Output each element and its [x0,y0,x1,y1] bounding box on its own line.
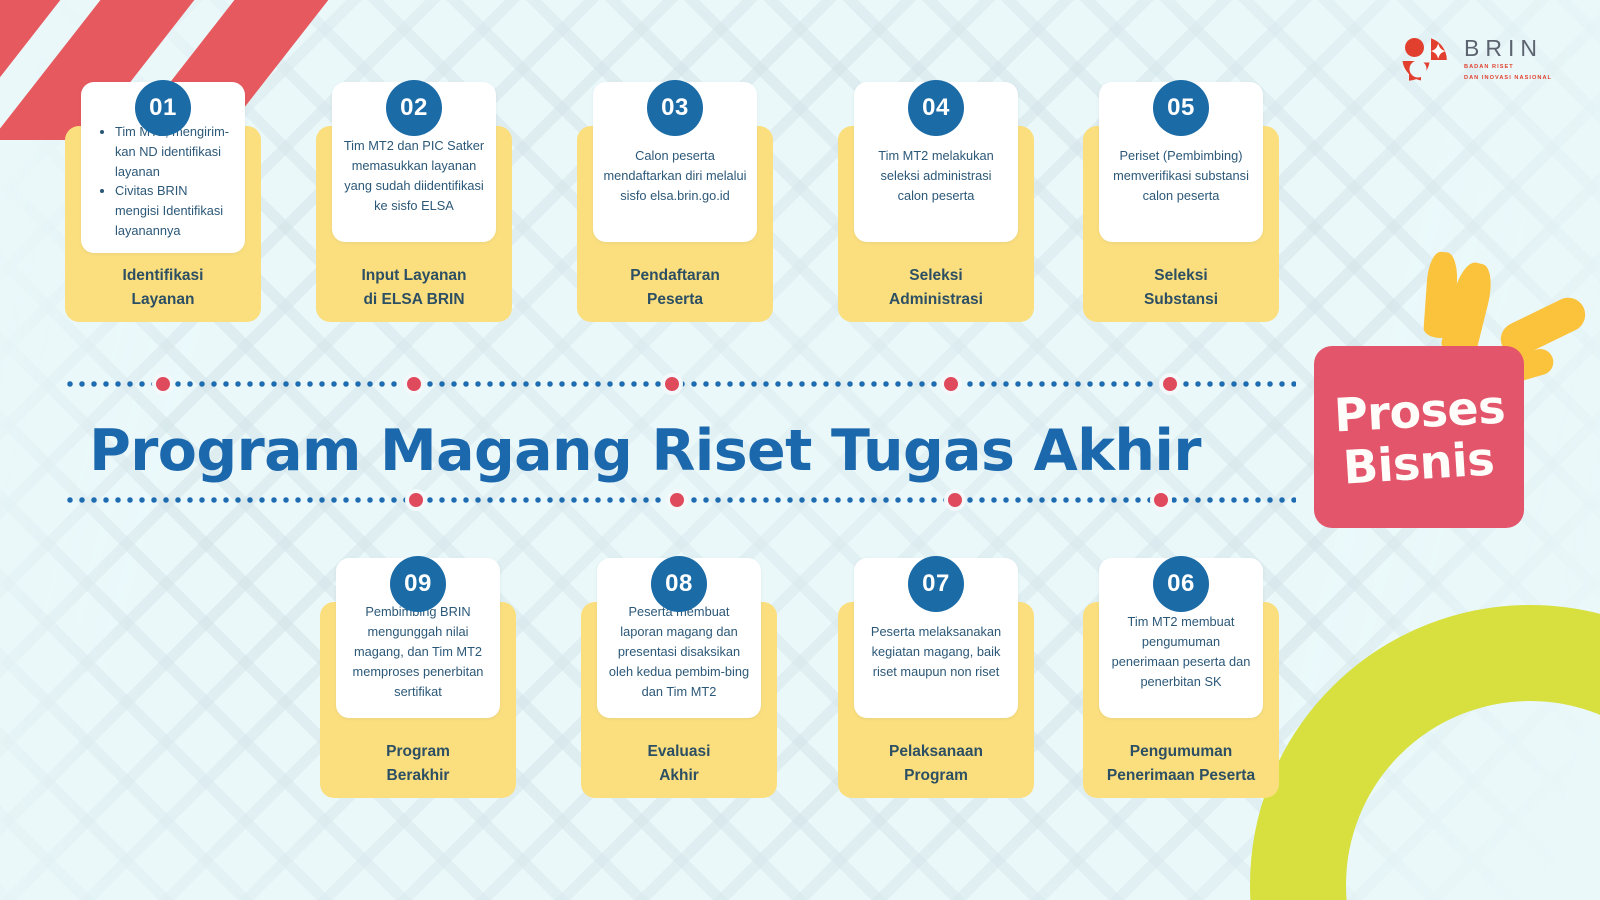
card-caption: Program Berakhir [320,740,516,788]
card-body: Peserta melaksanakan kegiatan magang, ba… [864,622,1008,681]
page-title: Program Magang Riset Tugas Akhir [0,418,1290,484]
step-number-badge: 09 [390,556,446,612]
step-number-badge: 03 [647,80,703,136]
card-caption-line1: Pengumuman [1069,740,1293,764]
card-caption-line2: Layanan [65,288,261,312]
card-caption-line1: Identifikasi [65,264,261,288]
card-caption-line1: Pelaksanaan [838,740,1034,764]
card-caption: Evaluasi Akhir [581,740,777,788]
card-caption: Input Layanan di ELSA BRIN [316,264,512,312]
card-caption-line2: Akhir [581,764,777,788]
card-body: Tim MT2, mengirim-kan ND identifikasi la… [91,122,235,241]
brin-logo: BRIN BADAN RISET DAN INOVASI NASIONAL [1398,32,1574,86]
card-body: Tim MT2 dan PIC Satker memasukkan layana… [342,136,486,215]
card-caption: Pelaksanaan Program [838,740,1034,788]
card-caption-line1: Seleksi [1083,264,1279,288]
timeline-dot [940,373,962,395]
proses-bisnis-line1: Proses [1332,384,1505,439]
timeline-dot [944,489,966,511]
brin-logo-mark-icon [1398,33,1450,85]
step-number-badge: 08 [651,556,707,612]
card-caption: Identifikasi Layanan [65,264,261,312]
proses-bisnis-badge: Proses Bisnis [1292,258,1592,546]
card-caption-line2: Program [838,764,1034,788]
brin-name: BRIN [1464,36,1552,60]
card-body: Periset (Pembimbing) memverifikasi subst… [1109,146,1253,205]
card-caption-line2: Berakhir [320,764,516,788]
step-number-badge: 02 [386,80,442,136]
step-number-badge: 05 [1153,80,1209,136]
brin-tagline-line1: BADAN RISET [1464,63,1552,71]
card-caption-line1: Program [320,740,516,764]
card-caption-line2: Penerimaan Peserta [1069,764,1293,788]
card-body: Calon peserta mendaftarkan diri melalui … [603,146,747,205]
card-caption-line2: Administrasi [838,288,1034,312]
proses-bisnis-box: Proses Bisnis [1314,346,1524,528]
card-caption-line1: Input Layanan [316,264,512,288]
card-body: Tim MT2 membuat pengumuman penerimaan pe… [1109,612,1253,691]
infographic-canvas: BRIN BADAN RISET DAN INOVASI NASIONAL 01… [0,0,1600,900]
card-body: Pembimbing BRIN mengunggah nilai magang,… [346,602,490,701]
timeline-dot [405,489,427,511]
card-caption: Pengumuman Penerimaan Peserta [1069,740,1293,788]
proses-bisnis-line2: Bisnis [1342,435,1496,490]
card-caption-line1: Pendaftaran [577,264,773,288]
step-number-badge: 06 [1153,556,1209,612]
brin-wordmark: BRIN BADAN RISET DAN INOVASI NASIONAL [1464,36,1552,82]
card-bullet: Civitas BRIN mengisi Identifikasi layana… [115,181,235,240]
timeline-dot [666,489,688,511]
card-body: Tim MT2 melakukan seleksi administrasi c… [864,146,1008,205]
timeline-dot [403,373,425,395]
card-caption: Seleksi Administrasi [838,264,1034,312]
card-body: Peserta membuat laporan magang dan prese… [607,602,751,701]
timeline-dot [1159,373,1181,395]
card-caption-line1: Evaluasi [581,740,777,764]
card-caption-line2: Peserta [577,288,773,312]
card-caption-line1: Seleksi [838,264,1034,288]
timeline-dot [661,373,683,395]
card-caption-line2: di ELSA BRIN [316,288,512,312]
card-caption: Seleksi Substansi [1083,264,1279,312]
card-caption: Pendaftaran Peserta [577,264,773,312]
timeline-dot [152,373,174,395]
step-number-badge: 07 [908,556,964,612]
step-number-badge: 01 [135,80,191,136]
step-number-badge: 04 [908,80,964,136]
card-caption-line2: Substansi [1083,288,1279,312]
timeline-dot [1150,489,1172,511]
brin-tagline-line2: DAN INOVASI NASIONAL [1464,74,1552,82]
